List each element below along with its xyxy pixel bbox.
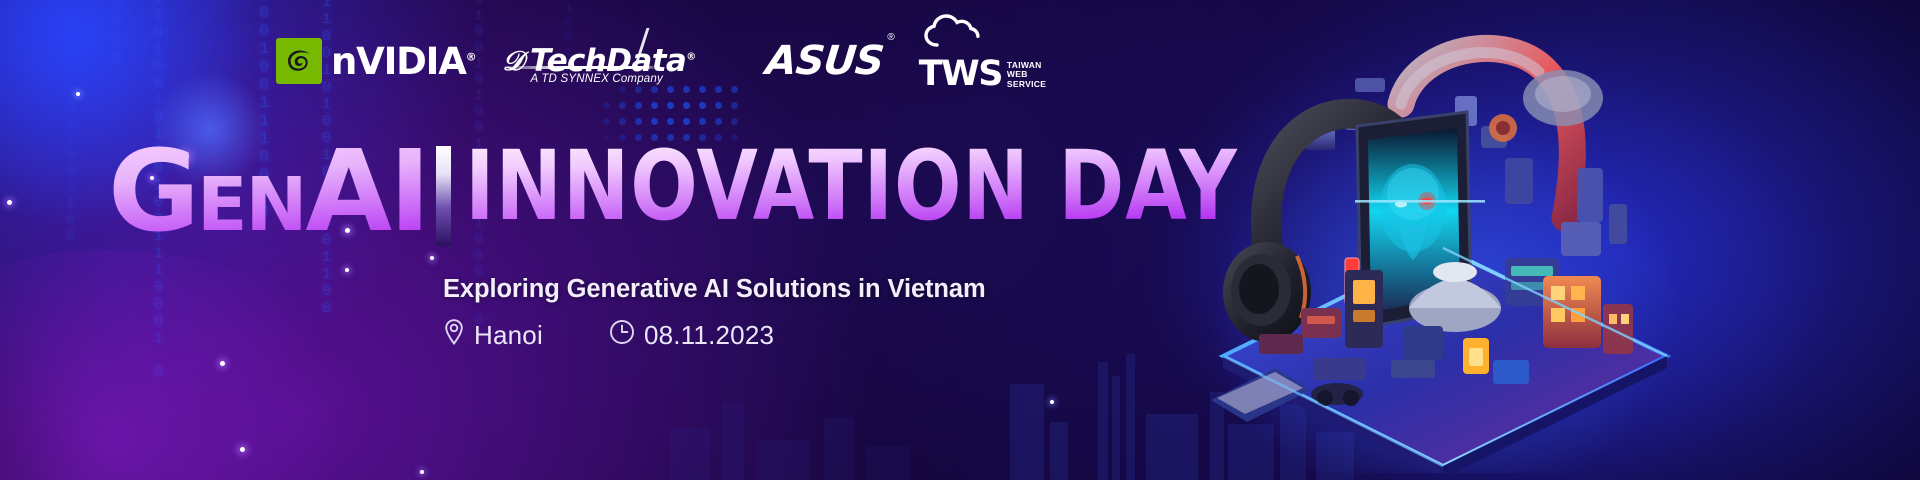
genai-innovation-day-banner: 0010 110100101001001110001 0 10010011100… (0, 0, 1920, 480)
headline-divider (436, 146, 451, 246)
logo-tws-subtext: TAIWAN WEB SERVICE (1007, 61, 1046, 93)
clock-icon (609, 319, 635, 352)
event-date-label: 08.11.2023 (644, 320, 774, 351)
spark (76, 92, 80, 96)
registered-mark-icon: ® (887, 32, 894, 43)
spark (430, 256, 434, 260)
techdata-underline-divider (504, 66, 655, 69)
headline-genai: GENAI (108, 140, 428, 257)
nvidia-eye-icon (276, 38, 322, 84)
event-location: Hanoi (443, 318, 543, 353)
page-title: GENAI INNOVATION DAY (108, 140, 1305, 250)
spark (345, 268, 349, 272)
td-d-icon: 𝒟 (502, 48, 524, 75)
logo-nvidia-wordmark: nVIDIA® (331, 43, 475, 80)
banner-subtitle: Exploring Generative AI Solutions in Vie… (443, 275, 986, 304)
event-location-label: Hanoi (474, 320, 543, 351)
binary-column: 0010 (108, 0, 125, 68)
binary-column: 1100101001011001100 (62, 0, 79, 244)
spark (1050, 400, 1054, 404)
cloud-icon (923, 11, 995, 52)
spark (220, 361, 225, 366)
headline-innovation-day: INNOVATION DAY (465, 140, 1238, 232)
spark (420, 470, 424, 474)
logo-techdata-tagline: A TD SYNNEX Company (530, 73, 662, 85)
logo-tws[interactable]: TWS TAIWAN WEB SERVICE (919, 30, 1046, 92)
logo-asus-wordmark: ASUS (764, 41, 885, 81)
logo-techdata-wordmark: TechData® (530, 46, 696, 77)
map-pin-icon (443, 318, 465, 353)
logo-techdata[interactable]: 𝒟 TechData® A TD SYNNEX Company (502, 30, 695, 92)
isometric-ai-city-illustration (1205, 8, 1675, 473)
sponsor-logo-row: nVIDIA® 𝒟 TechData® A TD SYNNEX Company … (276, 30, 1046, 92)
city-skyline-silhouette (660, 390, 960, 480)
logo-tws-wordmark: TWS (919, 57, 1002, 92)
logo-asus[interactable]: ASUS ® (766, 30, 883, 92)
spark (7, 200, 12, 205)
logo-nvidia[interactable]: nVIDIA® (276, 30, 475, 92)
event-date: 08.11.2023 (609, 319, 774, 352)
event-meta-row: Hanoi 08.11.2023 (443, 318, 774, 353)
glow-blob (0, 250, 390, 480)
spark (240, 447, 245, 452)
